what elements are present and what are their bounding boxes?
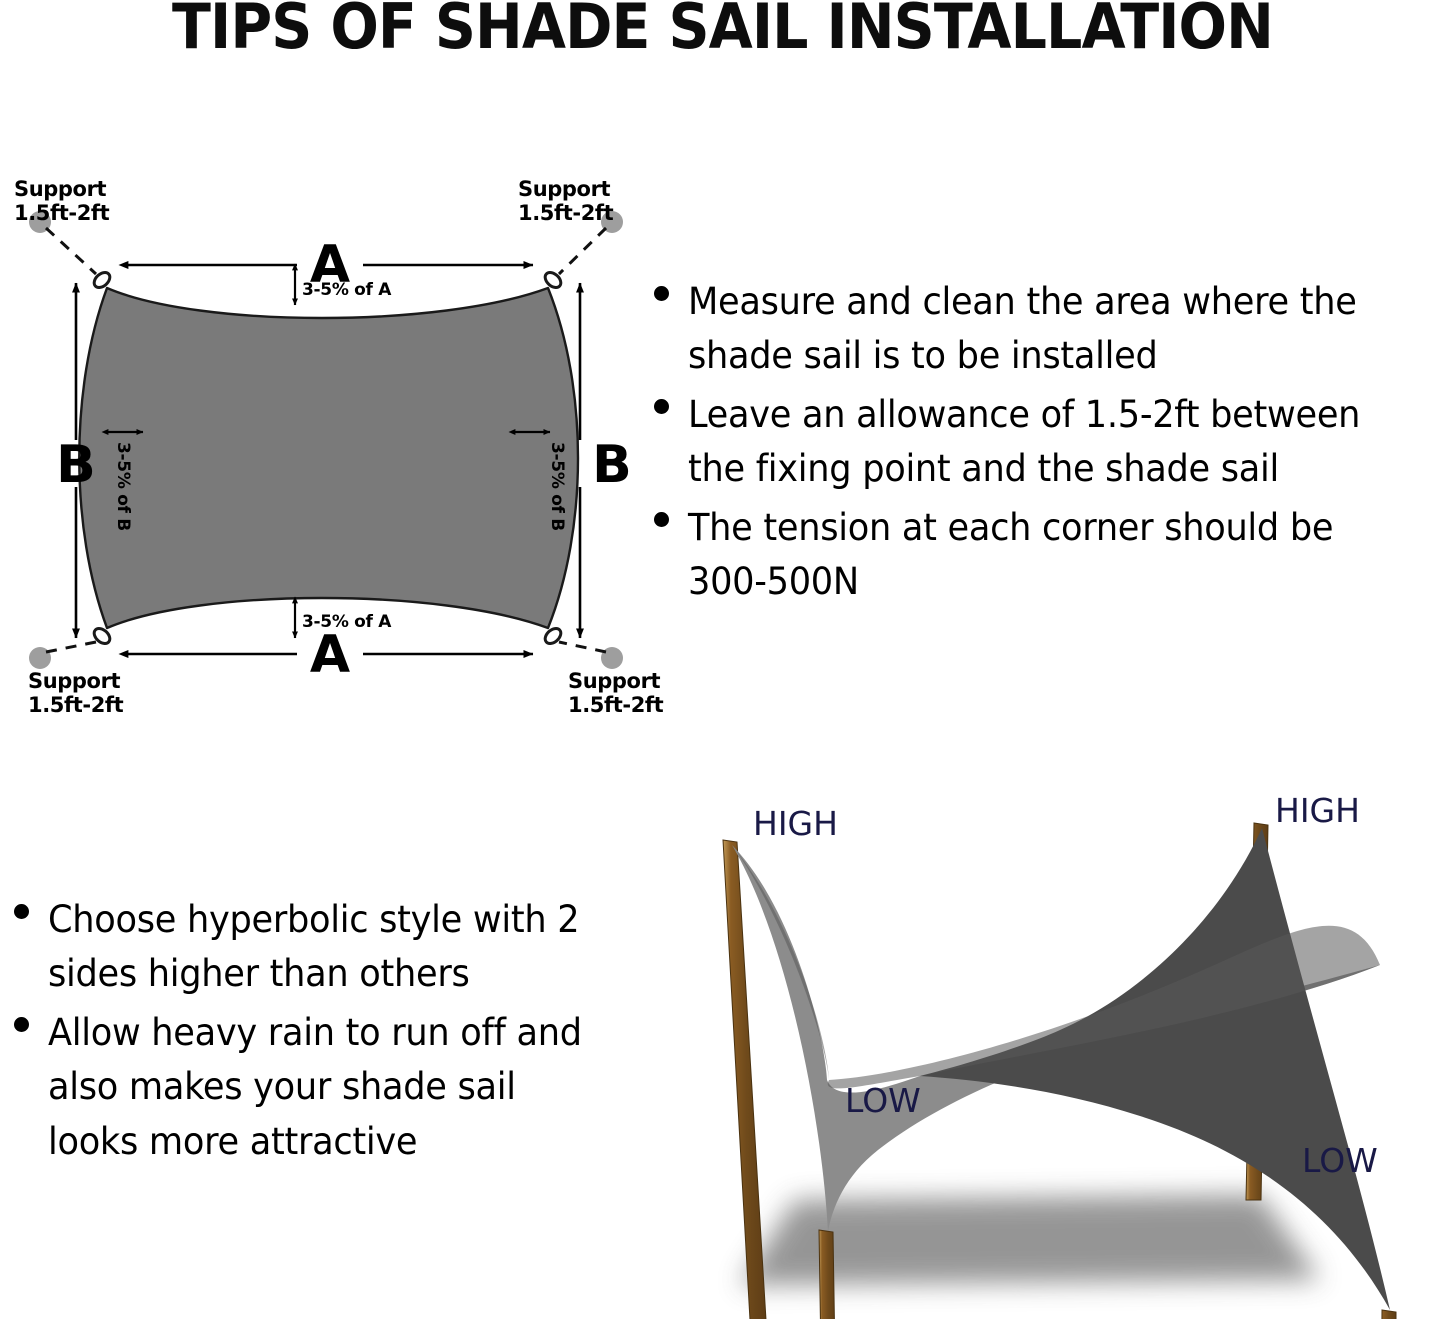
dimension-label-b-left: B (56, 435, 96, 495)
dimension-label-a-bottom: A (310, 625, 350, 685)
support-label-bottom-left: Support 1.5ft-2ft (28, 669, 124, 717)
curve-label-right: 3-5% of B (547, 442, 567, 531)
support-label-line1: Support (568, 669, 661, 693)
support-label-bottom-right: Support 1.5ft-2ft (568, 669, 664, 717)
tip-text: Leave an allowance of 1.5-2ft between th… (688, 388, 1407, 497)
support-label-top-left: Support 1.5ft-2ft (14, 177, 110, 225)
list-item: Allow heavy rain to run off and also mak… (0, 1006, 625, 1169)
support-label-line2: 1.5ft-2ft (14, 201, 110, 225)
tip-text: Allow heavy rain to run off and also mak… (48, 1006, 596, 1169)
list-item: Measure and clean the area where the sha… (640, 275, 1445, 384)
support-label-top-right: Support 1.5ft-2ft (518, 177, 614, 225)
curve-label-top: 3-5% of A (302, 280, 392, 300)
list-item: The tension at each corner should be 300… (640, 501, 1445, 610)
bullet-dot-icon (654, 399, 669, 414)
bullet-dot-icon (14, 904, 29, 919)
post-high-left (723, 840, 766, 1319)
curve-label-bottom: 3-5% of A (302, 612, 392, 632)
bullet-dot-icon (14, 1017, 29, 1032)
list-item: Choose hyperbolic style with 2 sides hig… (0, 893, 625, 1002)
hyperbolic-sail-diagram: HIGH HIGH LOW LOW (620, 780, 1445, 1319)
bullet-dot-icon (654, 512, 669, 527)
bullet-dot-icon (654, 286, 669, 301)
post-low-right (1380, 1310, 1396, 1319)
support-label-line1: Support (14, 177, 107, 201)
tips-list-top-right: Measure and clean the area where the sha… (640, 275, 1445, 613)
dimension-label-b-right: B (592, 435, 632, 495)
list-item: Leave an allowance of 1.5-2ft between th… (640, 388, 1445, 497)
support-label-line2: 1.5ft-2ft (28, 693, 124, 717)
support-label-line2: 1.5ft-2ft (518, 201, 614, 225)
label-low-right: LOW (1302, 1141, 1378, 1180)
support-label-line2: 1.5ft-2ft (568, 693, 664, 717)
label-high-right: HIGH (1275, 791, 1360, 830)
support-label-line1: Support (28, 669, 121, 693)
support-label-line1: Support (518, 177, 611, 201)
tip-text: The tension at each corner should be 300… (688, 501, 1407, 610)
post-low-left (819, 1230, 836, 1319)
rectangular-sail-diagram: Support 1.5ft-2ft Support 1.5ft-2ft Supp… (0, 160, 660, 730)
curve-label-left: 3-5% of B (113, 442, 133, 531)
tips-list-bottom-left: Choose hyperbolic style with 2 sides hig… (0, 893, 625, 1173)
tip-text: Choose hyperbolic style with 2 sides hig… (48, 893, 596, 1002)
label-high-left: HIGH (753, 804, 838, 843)
sail-shape (79, 288, 578, 628)
label-low-left: LOW (845, 1081, 921, 1120)
tip-text: Measure and clean the area where the sha… (688, 275, 1407, 384)
page-title: TIPS OF SHADE SAIL INSTALLATION (58, 0, 1387, 59)
